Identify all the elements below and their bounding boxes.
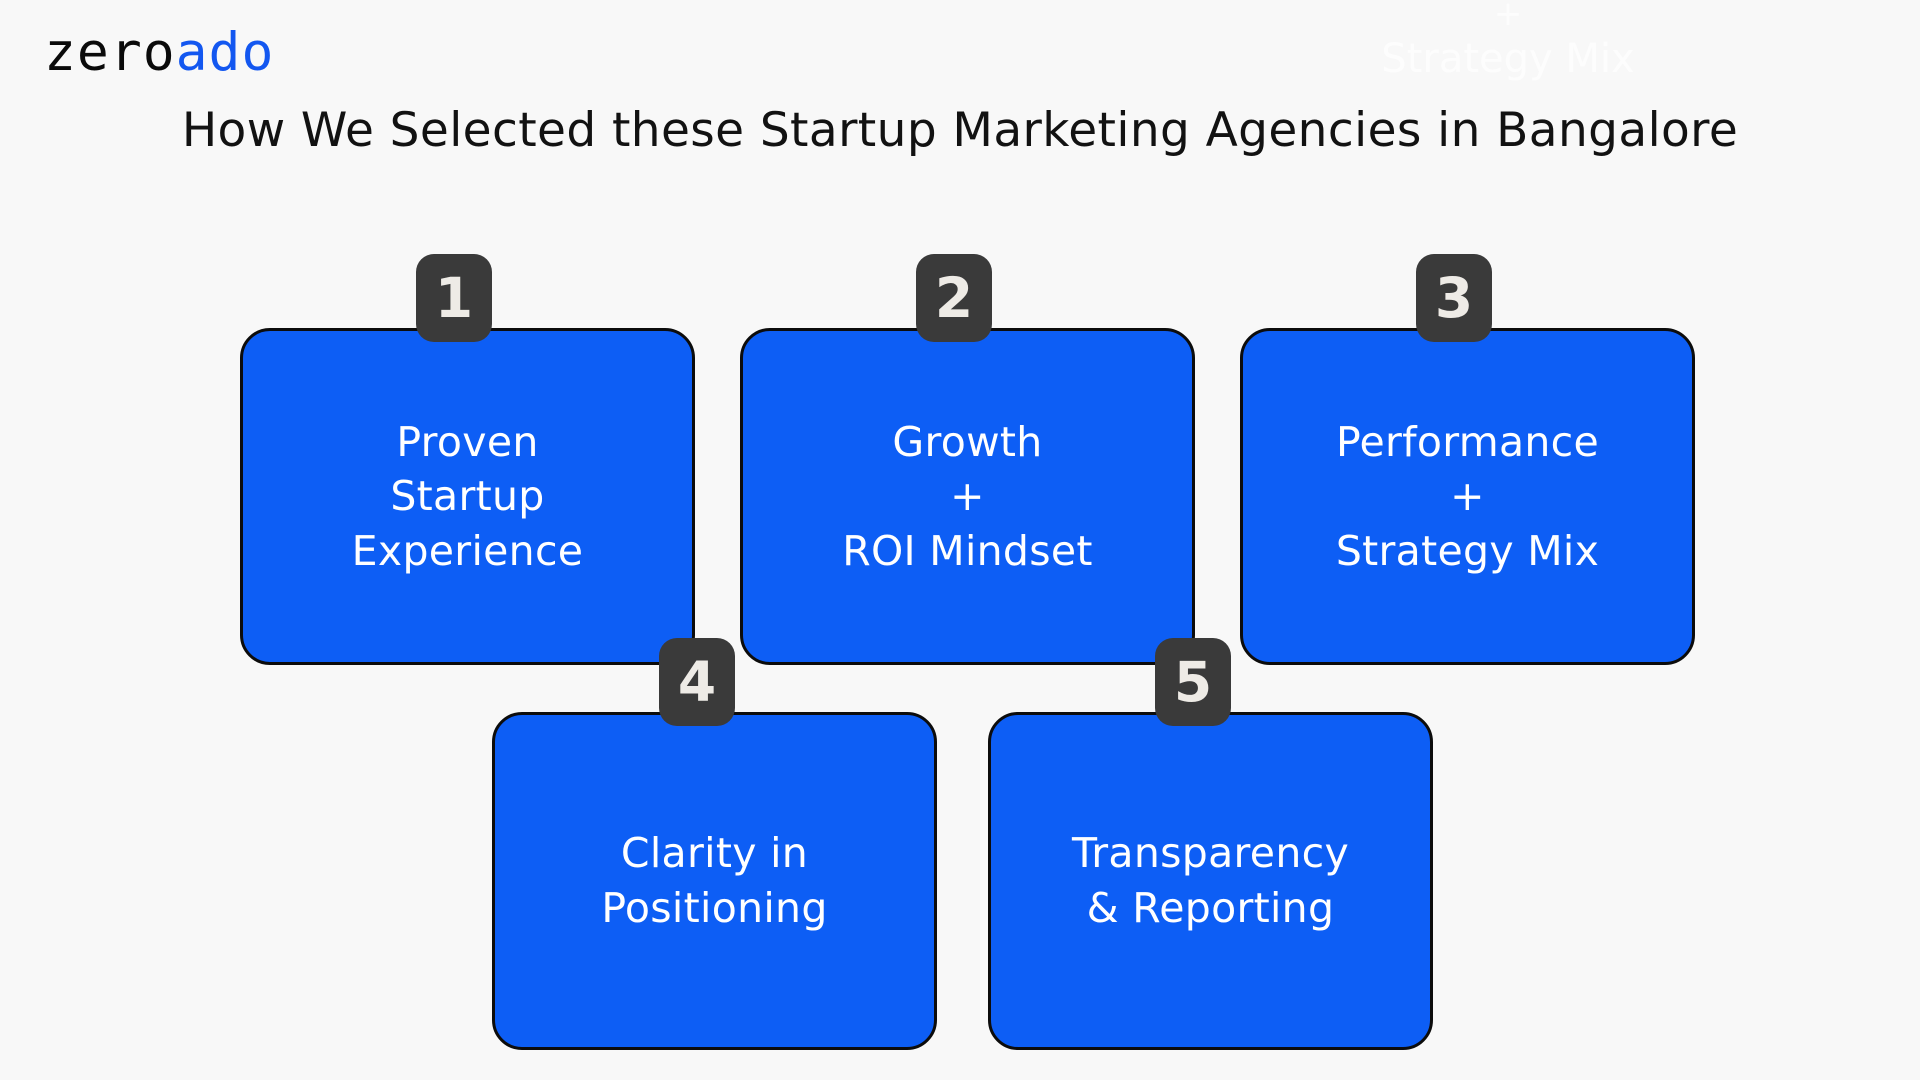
criteria-card-5-label: Transparency & Reporting	[1058, 826, 1363, 935]
logo-text-blue: ado	[176, 22, 275, 83]
criteria-card-3[interactable]: Performance + Strategy Mix	[1240, 328, 1695, 665]
criteria-card-5[interactable]: Transparency & Reporting	[988, 712, 1433, 1050]
step-badge-2: 2	[916, 254, 992, 342]
criteria-card-4[interactable]: Clarity in Positioning	[492, 712, 937, 1050]
step-badge-4-number: 4	[678, 655, 716, 710]
criteria-card-1[interactable]: Proven Startup Experience	[240, 328, 695, 665]
page-title: How We Selected these Startup Marketing …	[0, 103, 1920, 158]
step-badge-1: 1	[416, 254, 492, 342]
brand-logo[interactable]: zeroado	[44, 22, 274, 83]
criteria-card-2[interactable]: Growth + ROI Mindset	[740, 328, 1195, 665]
criteria-card-4-label: Clarity in Positioning	[587, 826, 841, 935]
criteria-card-1-label: Proven Startup Experience	[338, 415, 598, 579]
step-badge-5-number: 5	[1174, 655, 1212, 710]
step-badge-1-number: 1	[435, 271, 473, 326]
logo-text-dark: zero	[44, 22, 176, 83]
step-badge-5: 5	[1155, 638, 1231, 726]
step-badge-4: 4	[659, 638, 735, 726]
criteria-card-3-label: Performance + Strategy Mix	[1322, 415, 1613, 579]
step-badge-3-number: 3	[1435, 271, 1473, 326]
step-badge-2-number: 2	[935, 271, 973, 326]
card-grid: Proven Startup Experience 1 Growth + ROI…	[0, 0, 1920, 1080]
criteria-card-2-label: Growth + ROI Mindset	[828, 415, 1107, 579]
step-badge-3: 3	[1416, 254, 1492, 342]
